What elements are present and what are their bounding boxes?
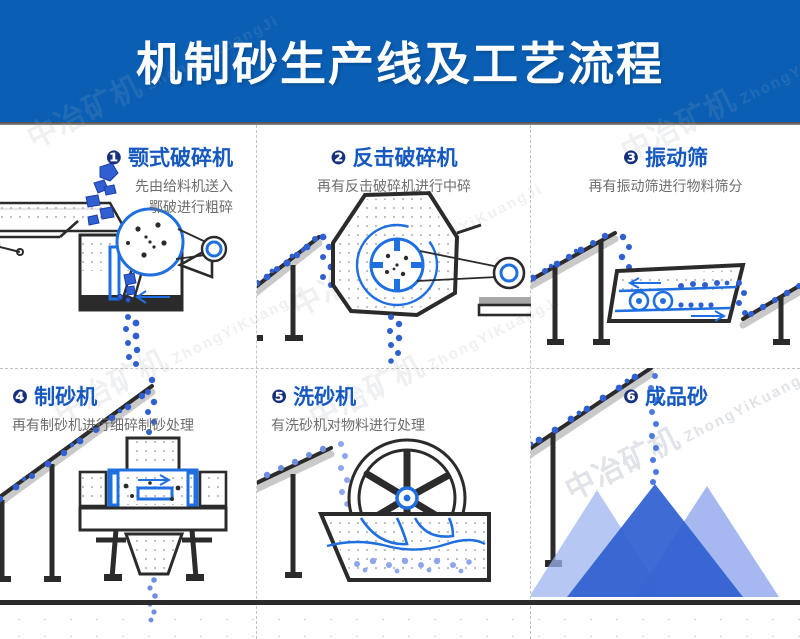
panel-2-text: ❷反击破碎机 再有反击破碎机进行中碎 — [257, 147, 531, 197]
page-title: 机制砂生产线及工艺流程 — [136, 28, 664, 94]
panel-1-number: ❶ — [106, 149, 122, 170]
panel-6-text: ❻成品砂 — [531, 386, 800, 409]
panel-5-title-row: ❺洗砂机 — [271, 386, 425, 409]
panel-4-number: ❹ — [12, 388, 28, 409]
screen-output-stream — [736, 280, 748, 316]
panel-4-desc-line1: 再有制砂机进行细碎制砂处理 — [12, 415, 194, 436]
panel-3-number: ❸ — [623, 149, 639, 170]
header-banner: 机制砂生产线及工艺流程 — [0, 0, 800, 122]
panel-2-desc-line1: 再有反击破碎机进行中碎 — [257, 176, 531, 197]
motor-base — [479, 305, 531, 315]
feed-conveyor-2 — [257, 237, 319, 341]
panel-sand-washer: ❺洗砂机 有洗砂机对物料进行处理 — [257, 368, 531, 639]
falling-stream-3 — [619, 234, 632, 270]
panel-impact-crusher: ❷反击破碎机 再有反击破碎机进行中碎 — [257, 125, 531, 368]
panel-4-title: 制砂机 — [34, 386, 97, 409]
panel-5-title: 洗砂机 — [293, 386, 356, 409]
panel-5-number: ❺ — [271, 388, 287, 409]
impact-discharge-stream — [387, 314, 402, 364]
panel-4-title-row: ❹制砂机 — [12, 386, 194, 409]
panel-3-title: 振动筛 — [645, 147, 708, 170]
impact-motor-pulley-outer — [494, 258, 524, 288]
panel-3-text: ❸振动筛 再有振动筛进行物料筛分 — [531, 147, 800, 197]
panel-3-desc-line1: 再有振动筛进行物料筛分 — [531, 176, 800, 197]
panel-jaw-crusher: ❶颚式破碎机 先由给料机送入 鄂破进行粗碎 — [0, 125, 257, 368]
panel-5-text: ❺洗砂机 有洗砂机对物料进行处理 — [271, 386, 425, 436]
panel-2-title: 反击破碎机 — [353, 147, 458, 170]
panel-1-text: ❶颚式破碎机 先由给料机送入 鄂破进行粗碎 — [106, 147, 233, 218]
panel-6-number: ❻ — [623, 388, 639, 409]
panel-6-title-row: ❻成品砂 — [531, 386, 800, 409]
panel-1-title: 颚式破碎机 — [128, 147, 233, 170]
panel-2-title-row: ❷反击破碎机 — [257, 147, 531, 170]
crusher-lid-arm — [457, 225, 481, 233]
panel-4-text: ❹制砂机 再有制砂机进行细碎制砂处理 — [12, 386, 194, 436]
infographic-page: 机制砂生产线及工艺流程 ❶颚式破碎机 先由给料机送入 鄂破进行粗碎 — [0, 0, 800, 639]
panel-sand-making-machine: ❹制砂机 再有制砂机进行细碎制砂处理 — [0, 368, 257, 639]
panel-6-title: 成品砂 — [645, 386, 708, 409]
panel-1-desc-line1: 先由给料机送入 — [106, 176, 233, 197]
panel-3-title-row: ❸振动筛 — [531, 147, 800, 170]
panel-2-number: ❷ — [330, 149, 346, 170]
jaw-discharge-stream — [123, 314, 140, 367]
ground-line — [0, 600, 800, 605]
panel-1-desc-line2: 鄂破进行粗碎 — [106, 197, 233, 218]
feed-conveyor-3 — [531, 233, 615, 345]
vsi-platform — [80, 508, 226, 530]
panel-vibrating-screen: ❸振动筛 再有振动筛进行物料筛分 — [531, 125, 800, 368]
panel-5-desc-line1: 有洗砂机对物料进行处理 — [271, 415, 425, 436]
panel-finished-sand: ❻成品砂 — [531, 368, 800, 639]
panel-1-title-row: ❶颚式破碎机 — [106, 147, 233, 170]
output-conveyor-3 — [743, 273, 800, 345]
process-grid: ❶颚式破碎机 先由给料机送入 鄂破进行粗碎 — [0, 125, 800, 639]
